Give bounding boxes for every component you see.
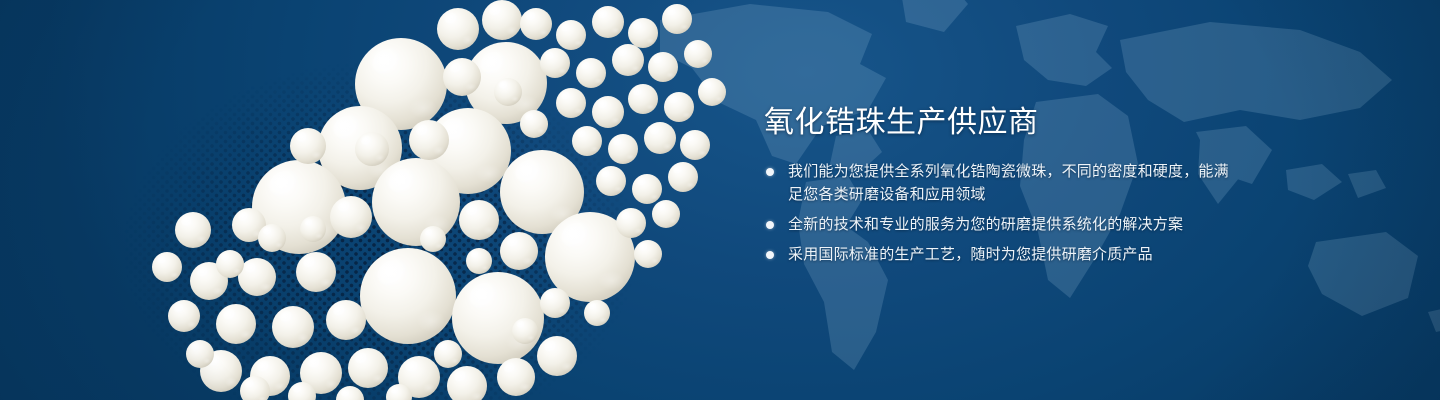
bead-medium — [437, 8, 479, 50]
bead-large — [545, 212, 635, 302]
bead-small — [336, 386, 364, 400]
bead-medium — [482, 0, 522, 40]
bead-large — [355, 38, 447, 130]
bead-small — [420, 226, 446, 252]
page-title: 氧化锆珠生产供应商 — [764, 104, 1232, 142]
bead-medium — [409, 120, 449, 160]
bead-small — [168, 300, 200, 332]
bead-medium — [300, 352, 342, 394]
list-item-label: 我们能为您提供全系列氧化锆陶瓷微珠，不同的密度和硬度，能满足您各类研磨设备和应用… — [788, 163, 1229, 203]
bead-small — [512, 318, 538, 344]
hero-banner: 氧化锆珠生产供应商 我们能为您提供全系列氧化锆陶瓷微珠，不同的密度和硬度，能满足… — [0, 0, 1440, 400]
bead-small — [216, 250, 244, 278]
zirconia-bead-cluster-image — [0, 0, 760, 400]
list-item-label: 全新的技术和专业的服务为您的研磨提供系统化的解决方案 — [788, 216, 1183, 233]
bead-medium — [290, 128, 326, 164]
list-item: 采用国际标准的生产工艺，随时为您提供研磨介质产品 — [762, 243, 1232, 266]
bead-large — [500, 150, 584, 234]
bead-medium — [447, 366, 487, 400]
bead-small — [300, 216, 326, 242]
feature-list: 我们能为您提供全系列氧化锆陶瓷微珠，不同的密度和硬度，能满足您各类研磨设备和应用… — [762, 160, 1232, 266]
bead-large — [372, 158, 460, 246]
bead-medium — [537, 336, 577, 376]
bead-medium — [238, 258, 276, 296]
bead-small — [540, 288, 570, 318]
bead-small — [612, 44, 644, 76]
bead-small — [684, 40, 712, 68]
bead-large — [360, 248, 456, 344]
bead-small — [592, 6, 624, 38]
halftone-dot-pattern — [120, 0, 740, 400]
bead-small — [668, 162, 698, 192]
bead-small — [592, 96, 624, 128]
bead-medium — [459, 200, 499, 240]
bead-small — [628, 18, 658, 48]
bead-small — [556, 20, 586, 50]
bead-small — [466, 248, 492, 274]
bead-large — [252, 160, 346, 254]
bead-medium — [296, 252, 336, 292]
bullet-dot-icon — [766, 168, 774, 176]
bead-small — [648, 52, 678, 82]
bead-large — [318, 106, 402, 190]
bead-small — [616, 208, 646, 238]
bead-small — [258, 224, 286, 252]
bead-small — [652, 200, 680, 228]
bead-medium — [232, 208, 266, 242]
bead-small — [576, 58, 606, 88]
bead-small — [494, 78, 522, 106]
bead-small — [608, 134, 638, 164]
bead-small — [662, 4, 692, 34]
bullet-dot-icon — [766, 221, 774, 229]
bead-small — [288, 382, 316, 400]
bead-medium — [330, 196, 372, 238]
bead-medium — [326, 300, 366, 340]
bead-small — [386, 384, 412, 400]
bead-small — [634, 240, 662, 268]
bead-small — [520, 110, 548, 138]
bead-large — [452, 272, 544, 364]
bead-medium — [272, 306, 314, 348]
bead-small — [698, 78, 726, 106]
bead-medium — [497, 358, 535, 396]
bead-small — [664, 92, 694, 122]
bead-small — [632, 174, 662, 204]
bead-medium — [500, 232, 538, 270]
bullet-dot-icon — [766, 251, 774, 259]
bead-small — [628, 84, 658, 114]
bead-small — [572, 126, 602, 156]
bead-small — [186, 340, 214, 368]
bead-medium — [200, 350, 242, 392]
bead-small — [152, 252, 182, 282]
bead-medium — [190, 262, 228, 300]
bead-small — [680, 130, 710, 160]
bead-small — [240, 376, 270, 400]
bead-small — [596, 166, 626, 196]
bead-medium — [443, 58, 481, 96]
bead-small — [644, 122, 676, 154]
bead-medium — [398, 356, 440, 398]
bead-small — [556, 88, 586, 118]
bead-small — [584, 300, 610, 326]
bead-large — [465, 42, 547, 124]
list-item: 我们能为您提供全系列氧化锆陶瓷微珠，不同的密度和硬度，能满足您各类研磨设备和应用… — [762, 160, 1232, 206]
bead-small — [540, 48, 570, 78]
bead-medium — [216, 304, 256, 344]
bead-medium — [175, 212, 211, 248]
bead-small — [520, 8, 552, 40]
bead-large — [425, 108, 511, 194]
bead-medium — [348, 348, 388, 388]
list-item-label: 采用国际标准的生产工艺，随时为您提供研磨介质产品 — [788, 246, 1153, 263]
banner-text-block: 氧化锆珠生产供应商 我们能为您提供全系列氧化锆陶瓷微珠，不同的密度和硬度，能满足… — [762, 104, 1232, 273]
bead-medium — [355, 132, 389, 166]
bead-small — [434, 340, 462, 368]
list-item: 全新的技术和专业的服务为您的研磨提供系统化的解决方案 — [762, 213, 1232, 236]
bead-medium — [250, 356, 290, 396]
